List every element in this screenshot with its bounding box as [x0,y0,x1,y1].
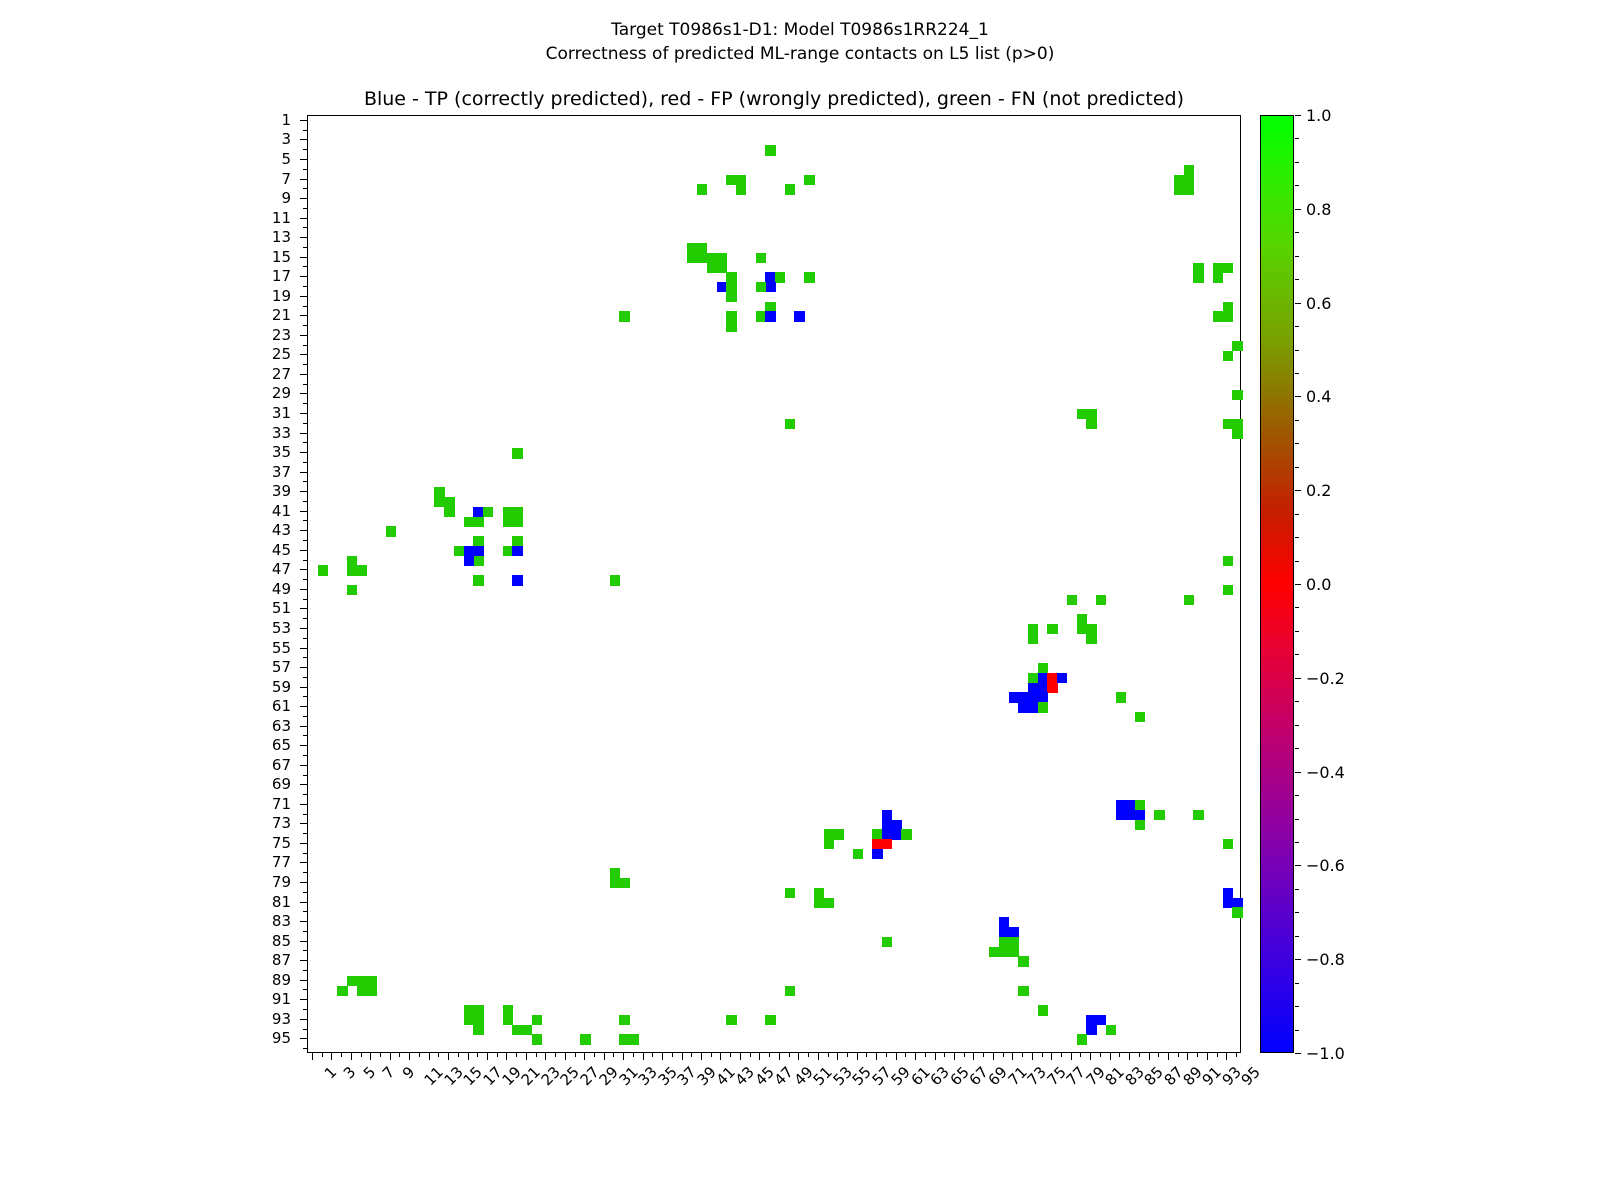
y-axis-tick [300,687,307,688]
heatmap-cell [1067,595,1077,605]
y-axis-tick [303,227,307,228]
x-axis-tick [1129,1053,1130,1060]
x-axis-tick [1197,1053,1198,1057]
heatmap-cell [1232,429,1242,439]
x-axis-tick [1051,1053,1052,1060]
heatmap-cell [765,1015,775,1025]
colorbar-tick [1295,303,1301,304]
x-axis-tick [1061,1053,1062,1057]
y-axis-tick [300,843,307,844]
y-axis-tick [300,296,307,297]
heatmap-cell [1232,390,1242,400]
y-axis-tick [303,384,307,385]
heatmap-cell [483,507,493,517]
figure-subtitle-legend: Blue - TP (correctly predicted), red - F… [307,88,1241,110]
heatmap-cell [619,1015,629,1025]
y-axis-tick [303,266,307,267]
y-axis-label: 41 [231,511,291,512]
y-axis-label: 25 [231,354,291,355]
heatmap-cell [1184,184,1194,194]
heatmap-cell [1232,341,1242,351]
colorbar-tick [1295,865,1301,866]
heatmap-cell [386,526,396,536]
x-axis-tick [458,1053,459,1057]
y-axis-label: 55 [231,648,291,649]
x-axis-tick [380,1053,381,1057]
colorbar-minor-tick [1295,561,1299,562]
colorbar-tick-label: 0.4 [1306,396,1331,397]
y-axis-tick [300,999,307,1000]
x-axis-tick [818,1053,819,1060]
y-axis-label: 29 [231,393,291,394]
y-axis-tick [303,560,307,561]
heatmap-cell [765,145,775,155]
contact-map-plot-area[interactable] [307,115,1241,1053]
x-axis-tick [536,1053,537,1057]
x-axis-tick [672,1053,673,1057]
x-axis-tick [497,1053,498,1057]
y-axis-tick [303,794,307,795]
y-axis-label: 71 [231,804,291,805]
heatmap-cell [1232,907,1242,917]
heatmap-cell [775,272,785,282]
heatmap-cell [619,311,629,321]
y-axis-tick [303,169,307,170]
x-axis-tick [604,1053,605,1060]
colorbar-minor-tick [1295,514,1299,515]
x-axis-tick [779,1053,780,1060]
y-axis-tick [300,648,307,649]
colorbar-minor-tick [1295,256,1299,257]
colorbar-minor-tick [1295,819,1299,820]
x-axis-tick [935,1053,936,1060]
heatmap-cell [882,839,892,849]
y-axis-tick [303,481,307,482]
x-axis-tick [1207,1053,1208,1060]
colorbar-minor-tick [1295,373,1299,374]
heatmap-cell [1223,351,1233,361]
heatmap-cell [532,1034,542,1044]
y-axis-tick [300,139,307,140]
colorbar-minor-tick [1295,631,1299,632]
x-axis-tick [361,1053,362,1057]
y-axis-label: 93 [231,1019,291,1020]
heatmap-cell [726,292,736,302]
heatmap-cell [473,1025,483,1035]
x-axis-label: 9 [399,1063,418,1082]
y-axis-tick [300,1019,307,1020]
x-axis-tick [341,1053,342,1057]
heatmap-cell [1106,1025,1116,1035]
heatmap-cell [1047,624,1057,634]
x-axis-tick [837,1053,838,1060]
figure-title: Target T0986s1-D1: Model T0986s1RR224_1 … [0,18,1600,66]
y-axis-tick [303,540,307,541]
y-axis-label: 95 [231,1038,291,1039]
y-axis-tick [303,1029,307,1030]
x-axis-tick [623,1053,624,1060]
colorbar-tick-label: 0.2 [1306,490,1331,491]
y-axis-label: 13 [231,237,291,238]
x-axis-label: 95 [1238,1063,1264,1089]
y-axis-label: 53 [231,628,291,629]
y-axis-label: 37 [231,472,291,473]
colorbar-minor-tick [1295,162,1299,163]
y-axis-tick [300,765,307,766]
colorbar-gradient [1260,115,1294,1053]
heatmap-cell [610,575,620,585]
x-axis-tick [1168,1053,1169,1060]
y-axis-label: 35 [231,452,291,453]
y-axis-label: 9 [231,198,291,199]
heatmap-cell [785,986,795,996]
y-axis-tick [303,345,307,346]
y-axis-label: 51 [231,608,291,609]
y-axis-tick [303,696,307,697]
heatmap-cell [824,898,834,908]
y-axis-tick [300,882,307,883]
heatmap-cell [765,311,775,321]
x-axis-tick [759,1053,760,1060]
colorbar-tick [1295,772,1301,773]
x-axis-tick [857,1053,858,1060]
colorbar-minor-tick [1295,1006,1299,1007]
y-axis-label: 7 [231,179,291,180]
y-axis-tick [303,989,307,990]
x-axis-tick [983,1053,984,1057]
x-axis-tick [808,1053,809,1057]
y-axis-tick [303,911,307,912]
heatmap-cell [1057,673,1067,683]
y-axis-tick [300,804,307,805]
x-axis-tick [1236,1053,1237,1057]
y-axis-tick [300,1038,307,1039]
x-axis-tick [1080,1053,1081,1057]
x-axis-tick [575,1053,576,1057]
heatmap-cell [756,282,766,292]
y-axis-label: 69 [231,784,291,785]
x-axis-tick [711,1053,712,1057]
colorbar[interactable]: 1.00.80.60.40.20.0−0.2−0.4−0.6−0.8−1.0 [1260,115,1294,1053]
heatmap-cell [1116,692,1126,702]
y-axis-label: 59 [231,687,291,688]
x-axis-tick [448,1053,449,1060]
heatmap-cell [1223,311,1233,321]
y-axis-tick [303,657,307,658]
heatmap-cell [1223,556,1233,566]
y-axis-tick [303,286,307,287]
y-axis-tick [300,491,307,492]
heatmap-cell [1038,702,1048,712]
y-axis-tick [303,579,307,580]
y-axis-tick [303,306,307,307]
heatmap-cell [1086,419,1096,429]
heatmap-cell [318,565,328,575]
heatmap-cell [853,849,863,859]
y-axis-tick [303,149,307,150]
y-axis-tick [303,1009,307,1010]
y-axis-tick [303,677,307,678]
x-axis-tick [701,1053,702,1060]
y-axis-tick [303,892,307,893]
heatmap-cell [1018,986,1028,996]
x-axis-tick [613,1053,614,1057]
heatmap-cell [765,282,775,292]
y-axis-tick [303,833,307,834]
y-axis-tick [300,550,307,551]
y-axis-tick [303,1048,307,1049]
y-axis-label: 85 [231,941,291,942]
heatmap-cell [1223,263,1233,273]
colorbar-tick-label: −0.4 [1306,772,1345,773]
colorbar-minor-tick [1295,443,1299,444]
x-axis-tick [545,1053,546,1060]
x-axis-tick [399,1053,400,1057]
x-axis-tick [516,1053,517,1057]
heatmap-cell [473,517,483,527]
colorbar-minor-tick [1295,326,1299,327]
x-axis-tick [964,1053,965,1057]
colorbar-tick [1295,115,1301,116]
x-axis-tick [506,1053,507,1060]
colorbar-minor-tick [1295,537,1299,538]
heatmap-cell [1135,820,1145,830]
colorbar-tick [1295,209,1301,210]
heatmap-cell [726,1015,736,1025]
x-axis-tick [915,1053,916,1060]
y-axis-label: 19 [231,296,291,297]
y-axis-label: 63 [231,726,291,727]
x-axis-tick [438,1053,439,1057]
heatmap-cell [580,1034,590,1044]
y-axis-tick [300,530,307,531]
heatmap-cell [1028,634,1038,644]
y-axis-tick [303,325,307,326]
x-axis-tick [798,1053,799,1060]
y-axis-label: 49 [231,589,291,590]
y-axis-tick [303,364,307,365]
heatmap-cell [1038,1005,1048,1015]
y-axis-label: 79 [231,882,291,883]
y-axis-label: 31 [231,413,291,414]
colorbar-minor-tick [1295,279,1299,280]
y-axis-label: 83 [231,921,291,922]
heatmap-cell [1193,272,1203,282]
y-axis-tick [300,179,307,180]
y-axis-tick [300,257,307,258]
y-axis-tick [300,784,307,785]
heatmap-cell [347,585,357,595]
colorbar-minor-tick [1295,701,1299,702]
heatmap-cell [804,175,814,185]
heatmap-cell [1154,810,1164,820]
heatmap-cell [1223,839,1233,849]
x-axis-tick [1226,1053,1227,1060]
heatmap-cell [824,839,834,849]
x-axis-tick [594,1053,595,1057]
y-axis-tick [300,354,307,355]
heatmap-cell [366,986,376,996]
y-axis-label: 81 [231,902,291,903]
heatmap-cell [1086,634,1096,644]
heatmap-cell [756,253,766,263]
y-axis-tick [300,941,307,942]
x-axis-tick [720,1053,721,1060]
x-axis-tick [896,1053,897,1060]
y-axis-tick [300,589,307,590]
heatmap-cell [1135,712,1145,722]
colorbar-tick-label: −0.8 [1306,959,1345,960]
y-axis-label: 21 [231,315,291,316]
y-axis-label: 91 [231,999,291,1000]
colorbar-minor-tick [1295,654,1299,655]
heatmap-cell [1184,595,1194,605]
heatmap-cell [337,986,347,996]
y-axis-tick [303,638,307,639]
y-axis-label: 89 [231,980,291,981]
colorbar-minor-tick [1295,842,1299,843]
y-axis-tick [300,569,307,570]
heatmap-cell [1096,595,1106,605]
y-axis-tick [300,452,307,453]
x-axis-tick [652,1053,653,1057]
x-axis-label: 7 [379,1063,398,1082]
heatmap-cell [785,184,795,194]
x-axis-tick [993,1053,994,1060]
y-axis-tick [300,628,307,629]
y-axis-tick [303,462,307,463]
y-axis-tick [303,775,307,776]
y-axis-label: 43 [231,530,291,531]
y-axis-tick [303,188,307,189]
x-axis-tick [419,1053,420,1057]
x-axis-tick [565,1053,566,1060]
y-axis-label: 67 [231,765,291,766]
colorbar-minor-tick [1295,467,1299,468]
colorbar-tick [1295,959,1301,960]
x-axis-tick [925,1053,926,1057]
y-axis-tick [300,159,307,160]
heatmap-cell [1213,272,1223,282]
colorbar-tick-label: −0.6 [1306,865,1345,866]
y-axis-tick [303,970,307,971]
colorbar-tick-label: 0.0 [1306,584,1331,585]
y-axis-tick [303,208,307,209]
x-axis-tick [789,1053,790,1057]
y-axis-tick [300,980,307,981]
heatmap-cell [512,448,522,458]
y-axis-tick [303,520,307,521]
x-axis-tick [1100,1053,1101,1057]
y-axis-tick [300,902,307,903]
y-axis-tick [300,608,307,609]
x-axis-tick [740,1053,741,1060]
x-axis-tick [662,1053,663,1060]
heatmap-cell [697,184,707,194]
figure-canvas: Target T0986s1-D1: Model T0986s1RR224_1 … [0,0,1600,1200]
y-axis-tick [300,335,307,336]
y-axis-label: 77 [231,862,291,863]
y-axis-tick [300,120,307,121]
y-axis-tick [300,706,307,707]
y-axis-tick [300,413,307,414]
y-axis-tick [303,735,307,736]
x-axis-tick [429,1053,430,1060]
colorbar-minor-tick [1295,420,1299,421]
y-axis-tick [300,862,307,863]
y-axis-tick [303,403,307,404]
heatmap-cell [532,1015,542,1025]
x-axis-tick [487,1053,488,1060]
x-axis-tick [1178,1053,1179,1057]
heatmap-cell [473,575,483,585]
y-axis-tick [300,315,307,316]
y-axis-tick [303,755,307,756]
x-axis-tick [1022,1053,1023,1057]
x-axis-tick [1032,1053,1033,1060]
heatmap-cell [736,184,746,194]
colorbar-tick-label: −1.0 [1306,1053,1345,1054]
colorbar-minor-tick [1295,889,1299,890]
colorbar-tick-label: 0.6 [1306,303,1331,304]
x-axis-tick [1158,1053,1159,1057]
x-axis-tick [390,1053,391,1060]
heatmap-cell [512,575,522,585]
y-axis-label: 39 [231,491,291,492]
x-axis-tick [1012,1053,1013,1060]
heatmap-cell [794,311,804,321]
x-axis-tick [409,1053,410,1060]
heatmap-cell [357,565,367,575]
heatmap-cell [1223,585,1233,595]
x-axis-tick [331,1053,332,1060]
x-axis-tick [682,1053,683,1060]
x-axis-tick [1187,1053,1188,1060]
x-axis-tick [1090,1053,1091,1060]
y-axis-tick [303,501,307,502]
colorbar-minor-tick [1295,138,1299,139]
y-axis-label: 27 [231,374,291,375]
x-axis-tick [847,1053,848,1057]
x-axis-tick [1110,1053,1111,1060]
x-axis-tick [370,1053,371,1060]
heatmap-cell [785,419,795,429]
x-axis-tick [643,1053,644,1060]
x-axis-tick [322,1053,323,1057]
x-axis-tick [691,1053,692,1057]
colorbar-tick-label: −0.2 [1306,678,1345,679]
y-axis-label: 61 [231,706,291,707]
colorbar-minor-tick [1295,748,1299,749]
heatmap-cell [1047,683,1057,693]
x-axis-tick [312,1053,313,1060]
y-axis-tick [303,716,307,717]
heatmap-cell [901,829,911,839]
y-axis-label: 33 [231,433,291,434]
y-axis-tick [300,433,307,434]
y-axis-label: 45 [231,550,291,551]
y-axis-label: 47 [231,569,291,570]
x-axis-tick [1071,1053,1072,1060]
y-axis-tick [303,618,307,619]
colorbar-minor-tick [1295,490,1299,491]
y-axis-label: 75 [231,843,291,844]
x-axis-tick [905,1053,906,1057]
x-axis-tick [944,1053,945,1057]
heatmap-cell [629,1034,639,1044]
x-axis-tick [477,1053,478,1057]
heatmap-cell [512,517,522,527]
